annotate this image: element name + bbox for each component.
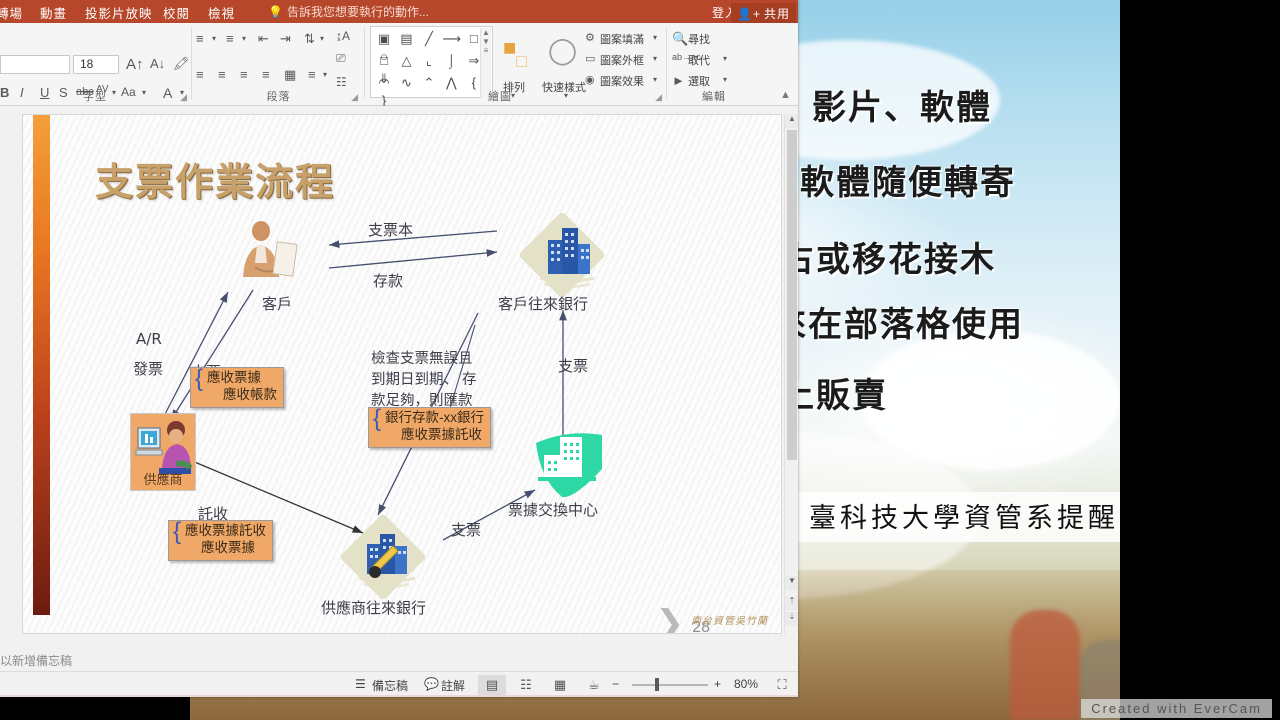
replace-dropdown[interactable]: ▾: [723, 54, 727, 63]
box-line-1: 應收票據託收: [185, 523, 266, 538]
tab-review[interactable]: 校閱: [163, 3, 190, 22]
align-left-icon[interactable]: ≡: [196, 67, 204, 82]
box-line-1: 銀行存款-xx銀行: [385, 410, 484, 425]
blue-bank-building-icon: [349, 520, 427, 594]
brace-icon: {: [195, 369, 203, 389]
node-label-customer-bank: 客戶往來銀行: [498, 293, 588, 314]
previous-slide-icon[interactable]: ⇡: [785, 596, 798, 610]
shape-outline-label[interactable]: 圖案外框: [600, 52, 644, 68]
bg-text-line: 占或移花接木: [780, 232, 996, 281]
node-label-customer: 客戶: [262, 293, 292, 314]
slide-title[interactable]: 支票作業流程: [95, 151, 335, 206]
select-dropdown[interactable]: ▾: [723, 75, 727, 84]
shape-fill-dropdown[interactable]: ▾: [653, 33, 657, 42]
drawing-dialog-launcher[interactable]: ◢: [655, 92, 662, 103]
columns-icon[interactable]: ≡: [308, 67, 316, 82]
edge-label-check-right: 支票: [558, 355, 588, 376]
shape-fill-label[interactable]: 圖案填滿: [600, 31, 644, 47]
black-bar-right: [1120, 0, 1280, 720]
tab-transitions[interactable]: 轉場: [0, 3, 23, 22]
notes-button[interactable]: 備忘稿: [372, 677, 408, 694]
person-writing-icon: [231, 215, 301, 287]
comments-button[interactable]: 註解: [441, 677, 465, 694]
person-at-computer-icon: [132, 416, 196, 474]
slideshow-icon[interactable]: ☕: [580, 675, 608, 695]
ribbon-group-font: 18 A↑ A↓ 🖍 B I U S abc AV ▾ Aa ▾ A ▾ 字型 …: [0, 23, 190, 106]
box-bank-deposit[interactable]: { 銀行存款-xx銀行 應收票據託收: [368, 407, 491, 448]
zoom-level-label[interactable]: 80%: [734, 677, 758, 691]
scroll-up-icon[interactable]: ▲: [785, 114, 798, 128]
zoom-slider-thumb[interactable]: [655, 678, 659, 691]
numbered-list-icon[interactable]: ≡: [226, 31, 234, 46]
chevron-right-icon: ❯: [656, 603, 685, 633]
bg-banner-text: 臺科技大學資管系提醒您: [793, 492, 1120, 542]
slide-footer-text: 南台資管吳竹蘭: [691, 612, 768, 627]
scrollbar-thumb[interactable]: [787, 130, 797, 460]
font-size-combo[interactable]: 18: [73, 55, 119, 74]
edge-label-check-bottom: 支票: [451, 519, 481, 540]
group-title-drawing: 繪圖: [410, 88, 590, 104]
ribbon-group-editing: 🔍 尋找 ab→ac 取代 ▾ ► 選取 ▾ 編輯: [672, 23, 790, 106]
select-icon: ►: [672, 73, 685, 88]
evercam-watermark: Created with EverCam: [1081, 699, 1272, 718]
increase-indent-icon[interactable]: ⇥: [280, 31, 291, 47]
brace-icon: {: [173, 522, 181, 542]
status-bar: ☰ 備忘稿 💬 註解 ▤ ☷ ▦ ☕ − + 80% ⛶: [0, 671, 798, 697]
normal-view-icon[interactable]: ▤: [478, 675, 506, 695]
shape-effects-icon: ◉: [585, 73, 595, 86]
shape-effects-dropdown[interactable]: ▾: [653, 75, 657, 84]
line-shape[interactable]: ╱: [420, 30, 438, 48]
window-bottom-edge: [0, 695, 798, 697]
box-line-2: 應收票據託收: [385, 427, 484, 444]
slide-accent-bar: [33, 115, 50, 615]
arrange-icon[interactable]: ■: [503, 35, 516, 61]
supplier-bank-icon-wrap: [349, 520, 427, 594]
text-direction-icon[interactable]: ↨A: [336, 29, 350, 43]
find-button[interactable]: 尋找: [688, 31, 710, 47]
share-label: 共用: [764, 7, 790, 21]
line-arrow-shape[interactable]: ⟶: [442, 30, 460, 48]
arc-shape[interactable]: ◠: [375, 74, 393, 92]
group-title-editing: 編輯: [664, 88, 764, 104]
bullet-list-dropdown[interactable]: ▾: [212, 34, 216, 43]
tab-animations[interactable]: 動畫: [40, 3, 67, 22]
tab-view[interactable]: 檢視: [208, 3, 235, 22]
bg-text-line: 來在部落格使用: [772, 297, 1024, 346]
shape-outline-icon: ▭: [585, 52, 595, 65]
fit-slide-icon[interactable]: ⛶: [768, 675, 796, 695]
elbow-connector-shape[interactable]: ⌞: [420, 52, 438, 70]
brace-icon: {: [373, 409, 381, 429]
shape-outline-dropdown[interactable]: ▾: [653, 54, 657, 63]
justify-icon[interactable]: ≡: [262, 67, 270, 82]
edge-label-ar: A/R: [136, 330, 162, 348]
box-line-2: 應收票據: [185, 540, 266, 557]
bullet-list-icon[interactable]: ≡: [196, 31, 204, 46]
font-dialog-launcher[interactable]: ◢: [180, 92, 187, 103]
ribbon-group-paragraph: ≡ ▾ ≡ ▾ ⇤ ⇥ ⇅ ▾ ↨A ⎚ ☷ ≡ ≡ ≡ ≡ ▦ ≡ ▾ 段落 …: [196, 23, 361, 106]
share-button[interactable]: 👤+共用: [731, 3, 796, 25]
next-slide-icon[interactable]: ⇣: [785, 612, 798, 626]
reading-view-icon[interactable]: ▦: [546, 675, 574, 695]
rectangle-shape[interactable]: □: [375, 52, 393, 70]
numbered-list-dropdown[interactable]: ▾: [242, 34, 246, 43]
diagram-note-text: 檢查支票無誤且 到期日到期、 存 款足夠，則匯款: [371, 349, 477, 412]
distributed-icon[interactable]: ▦: [284, 67, 296, 83]
clearing-icon-wrap: [528, 425, 614, 501]
node-label-supplier-bank: 供應商往來銀行: [321, 597, 426, 618]
notes-icon[interactable]: ☰: [355, 677, 366, 691]
blue-bank-building-icon: [528, 218, 606, 292]
edge-label-invoice: 發票: [133, 358, 163, 379]
box-collection[interactable]: { 應收票據託收 應收票據: [168, 520, 273, 561]
shrink-font-button[interactable]: A↓: [150, 56, 165, 71]
select-button[interactable]: 選取: [688, 73, 710, 89]
notes-placeholder: 以新增備忘稿: [0, 654, 72, 668]
supplier-icon-wrap: 供應商: [130, 413, 196, 491]
ribbon-body: 18 A↑ A↓ 🖍 B I U S abc AV ▾ Aa ▾ A ▾ 字型 …: [0, 23, 798, 106]
quick-styles-icon[interactable]: ◯: [548, 35, 577, 66]
scroll-down-icon[interactable]: ▼: [785, 576, 798, 590]
node-label-clearing-house: 票據交換中心: [508, 499, 598, 520]
textbox-shape[interactable]: ▣: [375, 30, 393, 48]
tell-me-label: 告訴我您想要執行的動作...: [287, 5, 429, 19]
ribbon-tab-strip: 轉場 動畫 投影片放映 校閱 檢視 💡告訴我您想要執行的動作... 登入 👤+共…: [0, 0, 798, 23]
comment-icon[interactable]: 💬: [424, 677, 439, 691]
tab-slideshow[interactable]: 投影片放映: [85, 3, 153, 22]
note-line: 到期日到期、 存: [371, 370, 477, 391]
font-name-combo[interactable]: [0, 55, 70, 74]
group-separator: [364, 27, 365, 99]
align-center-icon[interactable]: ≡: [218, 67, 226, 82]
textbox-shape[interactable]: ▤: [397, 30, 415, 48]
zoom-out-button[interactable]: −: [612, 677, 619, 691]
columns-dropdown[interactable]: ▾: [323, 70, 327, 79]
foreground-object: [1010, 610, 1080, 720]
note-line: 檢查支票無誤且: [371, 349, 477, 370]
clear-formatting-icon[interactable]: 🖍: [173, 56, 190, 72]
node-label-supplier: 供應商: [131, 469, 195, 488]
arrange-icon-2: □: [516, 51, 527, 72]
slide-surface[interactable]: 支票作業流程: [23, 115, 780, 633]
decrease-indent-icon[interactable]: ⇤: [258, 31, 269, 47]
bg-text-line: 影片、軟體: [812, 80, 992, 129]
share-person-icon: 👤+: [737, 7, 761, 21]
line-spacing-dropdown[interactable]: ▾: [320, 34, 324, 43]
tell-me-box[interactable]: 💡告訴我您想要執行的動作...: [268, 3, 429, 20]
customer-icon-wrap: [231, 215, 301, 287]
slide-sorter-icon[interactable]: ☷: [512, 675, 540, 695]
slide-vertical-scrollbar[interactable]: ▲ ▼ ⇡ ⇣: [784, 114, 798, 634]
elbow-connector-shape[interactable]: ⌡: [442, 52, 460, 70]
edge-label-deposit: 存款: [373, 270, 403, 291]
shape-effects-label[interactable]: 圖案效果: [600, 73, 644, 89]
powerpoint-window: 轉場 動畫 投影片放映 校閱 檢視 💡告訴我您想要執行的動作... 登入 👤+共…: [0, 0, 798, 697]
replace-button[interactable]: 取代: [688, 52, 710, 68]
paragraph-dialog-launcher[interactable]: ◢: [351, 92, 358, 103]
slide-canvas[interactable]: 支票作業流程: [22, 114, 782, 634]
triangle-shape[interactable]: △: [397, 52, 415, 70]
shape-fill-icon: ⚙: [585, 31, 595, 44]
box-accounts-receivable[interactable]: { 應收票據 應收帳款: [190, 367, 284, 408]
group-separator: [191, 27, 192, 99]
line-spacing-icon[interactable]: ⇅: [304, 31, 315, 47]
collapse-ribbon-button[interactable]: ▲: [780, 89, 791, 101]
bg-text-line: 軟體隨便轉寄: [800, 155, 1016, 204]
editor-area: 支票作業流程: [0, 106, 798, 697]
group-title-font: 字型: [0, 88, 190, 104]
box-line-2: 應收帳款: [207, 387, 277, 404]
align-right-icon[interactable]: ≡: [240, 67, 248, 82]
green-building-icon: [528, 425, 614, 501]
ribbon-group-drawing: ▣ ▤ ╱ ⟶ □ ○ □ △ ⌞ ⌡ ⇒ ⇓ ◠ ∿: [370, 23, 665, 106]
zoom-in-button[interactable]: +: [714, 677, 721, 691]
edge-label-checkbook: 支票本: [368, 219, 413, 240]
black-bar-bottom: [0, 695, 190, 720]
customer-bank-icon-wrap: [528, 218, 606, 292]
smartart-icon[interactable]: ☷: [336, 75, 347, 89]
search-icon: 🔍: [672, 31, 688, 47]
align-text-icon[interactable]: ⎚: [336, 51, 346, 66]
group-title-paragraph: 段落: [196, 88, 361, 104]
grow-font-button[interactable]: A↑: [126, 56, 144, 73]
box-line-1: 應收票據: [207, 370, 261, 385]
lightbulb-icon: 💡: [268, 5, 283, 19]
zoom-slider-track[interactable]: [632, 684, 708, 686]
